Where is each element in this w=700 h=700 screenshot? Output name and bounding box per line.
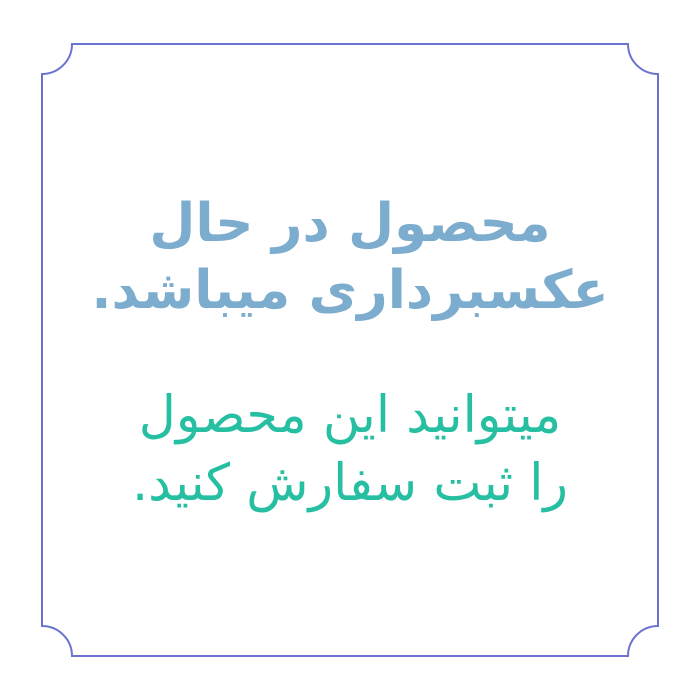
status-message: محصول در حال عکسبرداری میباشد. [70, 191, 630, 325]
order-message-line-2: را ثبت سفارش کنید. [70, 450, 630, 517]
message-stack: محصول در حال عکسبرداری میباشد. میتوانید … [0, 0, 700, 700]
product-placeholder-card: محصول در حال عکسبرداری میباشد. میتوانید … [0, 0, 700, 700]
status-message-line-1: محصول در حال [70, 191, 630, 258]
status-message-line-2: عکسبرداری میباشد. [70, 258, 630, 325]
order-message: میتوانید این محصول را ثبت سفارش کنید. [70, 382, 630, 517]
order-message-line-1: میتوانید این محصول [70, 382, 630, 449]
